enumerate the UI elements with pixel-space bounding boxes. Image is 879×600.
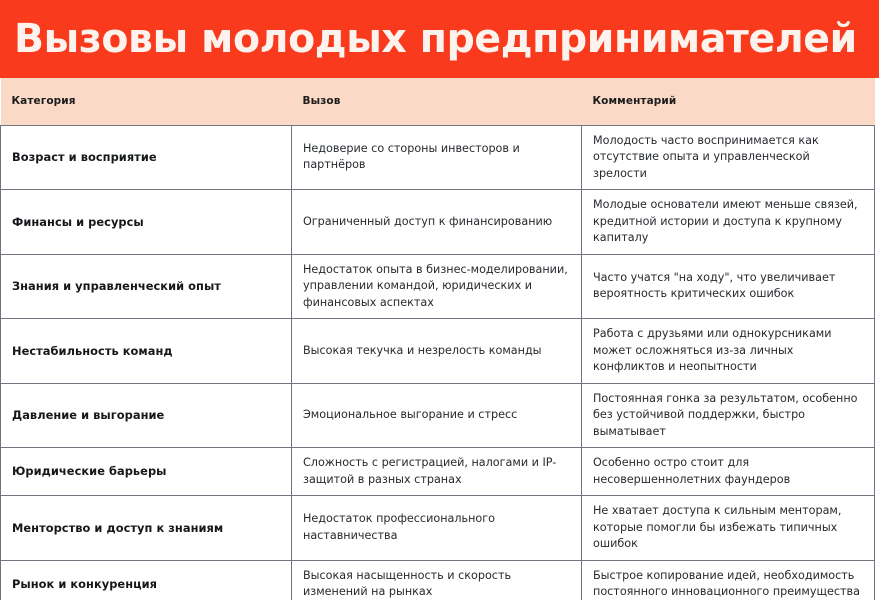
cell-comment: Молодые основатели имеют меньше связей, … — [582, 190, 875, 255]
cell-challenge: Недоверие со стороны инвесторов и партнё… — [292, 125, 582, 190]
table-row: Финансы и ресурсыОграниченный доступ к ф… — [1, 190, 875, 255]
cell-challenge: Недостаток опыта в бизнес-моделировании,… — [292, 254, 582, 319]
cell-challenge: Ограниченный доступ к финансированию — [292, 190, 582, 255]
infographic-page: Вызовы молодых предпринимателей Категори… — [0, 0, 879, 600]
table-container: Категория Вызов Комментарий Возраст и во… — [0, 78, 879, 600]
table-row: Юридические барьерыСложность с регистрац… — [1, 448, 875, 496]
cell-category: Давление и выгорание — [1, 383, 292, 448]
cell-challenge: Сложность с регистрацией, налогами и IP-… — [292, 448, 582, 496]
cell-challenge: Недостаток профессионального наставничес… — [292, 496, 582, 561]
table-row: Нестабильность командВысокая текучка и н… — [1, 319, 875, 384]
page-title: Вызовы молодых предпринимателей — [14, 17, 857, 61]
table-body: Возраст и восприятиеНедоверие со стороны… — [1, 125, 875, 600]
cell-category: Юридические барьеры — [1, 448, 292, 496]
cell-category: Финансы и ресурсы — [1, 190, 292, 255]
cell-comment: Работа с друзьями или однокурсниками мож… — [582, 319, 875, 384]
cell-comment: Особенно остро стоит для несовершеннолет… — [582, 448, 875, 496]
cell-category: Нестабильность команд — [1, 319, 292, 384]
column-header-challenge: Вызов — [292, 78, 582, 125]
title-banner: Вызовы молодых предпринимателей — [0, 0, 879, 78]
cell-comment: Не хватает доступа к сильным менторам, к… — [582, 496, 875, 561]
cell-challenge: Высокая текучка и незрелость команды — [292, 319, 582, 384]
cell-comment: Молодость часто воспринимается как отсут… — [582, 125, 875, 190]
cell-challenge: Эмоциональное выгорание и стресс — [292, 383, 582, 448]
challenges-table: Категория Вызов Комментарий Возраст и во… — [0, 78, 875, 600]
table-row: Давление и выгораниеЭмоциональное выгора… — [1, 383, 875, 448]
table-row: Возраст и восприятиеНедоверие со стороны… — [1, 125, 875, 190]
cell-category: Менторство и доступ к знаниям — [1, 496, 292, 561]
cell-category: Рынок и конкуренция — [1, 560, 292, 600]
cell-comment: Быстрое копирование идей, необходимость … — [582, 560, 875, 600]
column-header-comment: Комментарий — [582, 78, 875, 125]
cell-comment: Часто учатся "на ходу", что увеличивает … — [582, 254, 875, 319]
cell-challenge: Высокая насыщенность и скорость изменени… — [292, 560, 582, 600]
cell-category: Возраст и восприятие — [1, 125, 292, 190]
table-header: Категория Вызов Комментарий — [1, 78, 875, 125]
table-row: Рынок и конкуренцияВысокая насыщенность … — [1, 560, 875, 600]
cell-comment: Постоянная гонка за результатом, особенн… — [582, 383, 875, 448]
table-row: Знания и управленческий опытНедостаток о… — [1, 254, 875, 319]
table-header-row: Категория Вызов Комментарий — [1, 78, 875, 125]
cell-category: Знания и управленческий опыт — [1, 254, 292, 319]
column-header-category: Категория — [1, 78, 292, 125]
table-row: Менторство и доступ к знаниямНедостаток … — [1, 496, 875, 561]
